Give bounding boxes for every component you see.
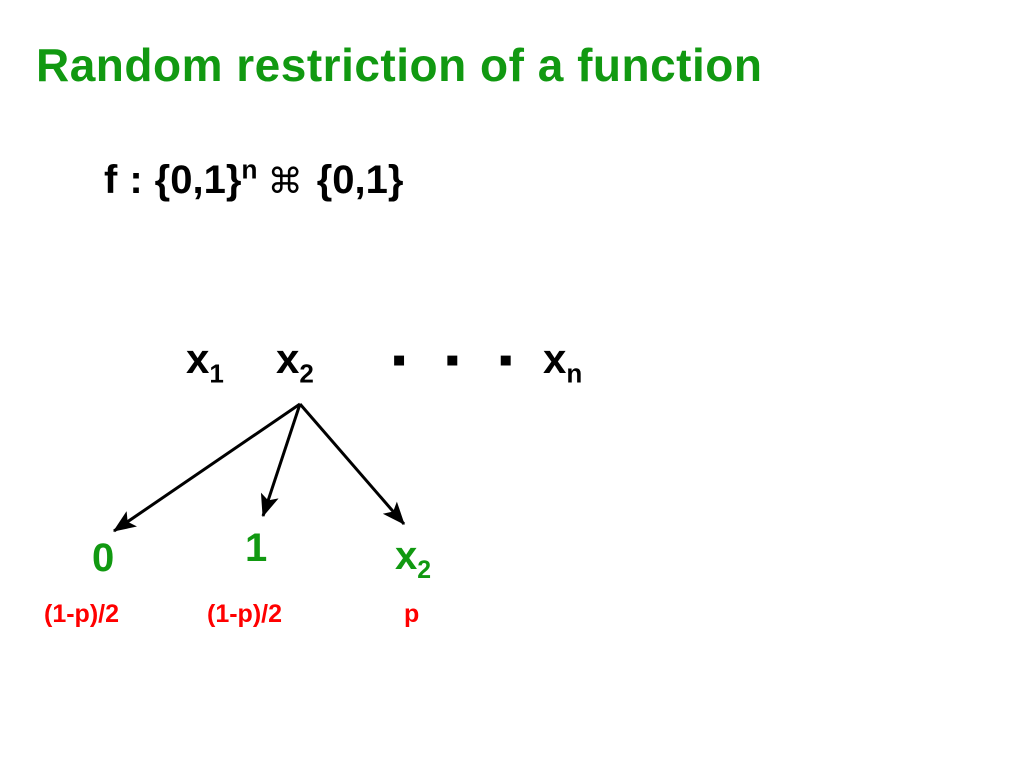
- outcome-0-text: 0: [92, 536, 114, 580]
- variable-x2-base: x: [276, 335, 299, 382]
- probability-outcome-1: (1-p)/2: [207, 602, 282, 627]
- probability-outcome-0: (1-p)/2: [44, 602, 119, 627]
- variable-x1-subscript: 1: [209, 358, 223, 388]
- variable-x1-base: x: [186, 335, 209, 382]
- variable-x2-subscript: 2: [299, 358, 313, 388]
- maps-to-icon: ⌘: [268, 161, 303, 202]
- page-title: Random restriction of a function: [36, 38, 762, 92]
- variable-x1: x1: [186, 338, 224, 380]
- outcome-labels: 0 1 x2: [0, 528, 1024, 588]
- variable-xn-base: x: [543, 335, 566, 382]
- domain-set: {0,1}: [155, 158, 242, 202]
- variable-ellipsis: ▪ ▪ ▪: [392, 340, 527, 380]
- branch-arrow-0: [114, 404, 300, 531]
- variable-xn: xn: [543, 338, 582, 380]
- variable-x2: x2: [276, 338, 314, 380]
- outcome-x2-subscript: 2: [417, 557, 431, 584]
- branch-arrow-2: [300, 404, 404, 524]
- outcome-x2-text: x: [395, 534, 417, 578]
- outcome-label-x2: x2: [395, 536, 431, 576]
- outcome-label-1: 1: [245, 528, 267, 568]
- probability-labels: (1-p)/2 (1-p)/2 p: [0, 602, 1024, 642]
- outcome-1-text: 1: [245, 526, 267, 570]
- domain-exponent: n: [241, 155, 257, 185]
- outcome-label-0: 0: [92, 538, 114, 578]
- variable-row: x1 x2 ▪ ▪ ▪ xn: [0, 338, 1024, 398]
- variable-xn-subscript: n: [566, 358, 582, 388]
- function-name: f: [104, 158, 117, 202]
- signature-colon: :: [129, 158, 142, 202]
- probability-outcome-x2: p: [404, 602, 419, 627]
- branch-arrow-1: [263, 404, 300, 516]
- codomain-set: {0,1}: [317, 158, 404, 202]
- function-signature: f:{0,1}n⌘{0,1}: [104, 160, 403, 200]
- slide-canvas: Random restriction of a function f:{0,1}…: [0, 0, 1024, 768]
